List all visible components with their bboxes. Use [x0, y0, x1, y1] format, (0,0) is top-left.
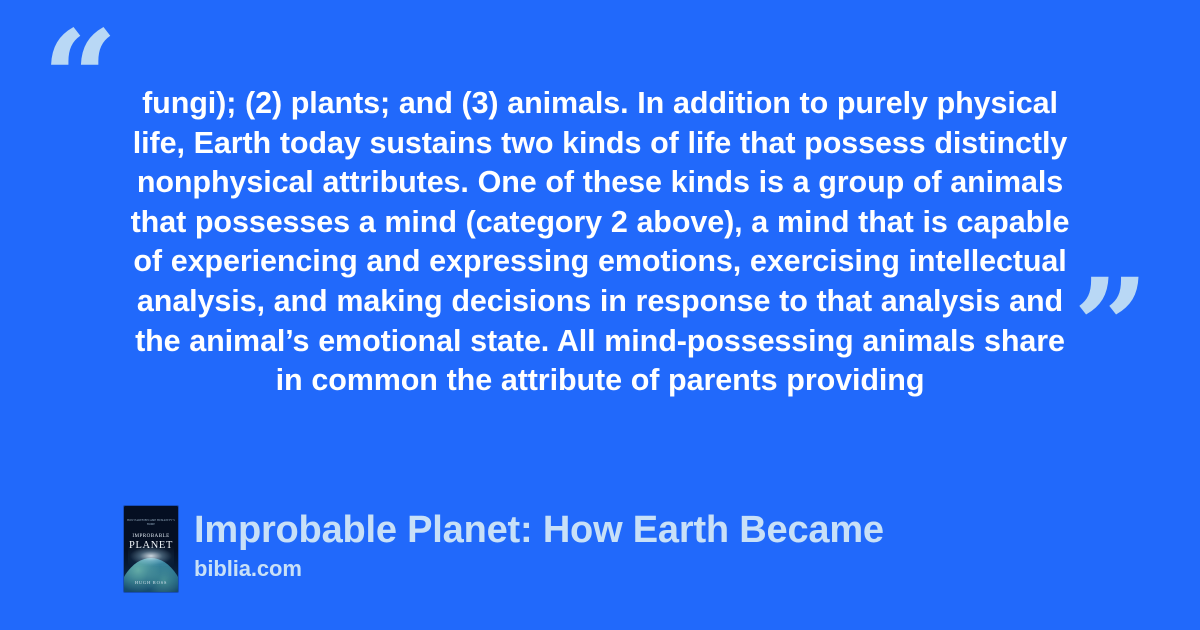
cover-subtitle: HOW EARTH BECAME HUMANITY’S HOME	[124, 519, 178, 526]
earth-globe-graphic	[124, 558, 178, 592]
cover-author: HUGH ROSS	[124, 580, 178, 585]
quote-card: “ fungi); (2) plants; and (3) animals. I…	[0, 0, 1200, 630]
attribution: HOW EARTH BECAME HUMANITY’S HOME IMPROBA…	[124, 506, 884, 592]
cover-title-line-2: PLANET	[124, 540, 178, 551]
quote-text: fungi); (2) plants; and (3) animals. In …	[118, 84, 1082, 401]
book-cover-thumbnail: HOW EARTH BECAME HUMANITY’S HOME IMPROBA…	[124, 506, 178, 592]
book-title: Improbable Planet: How Earth Became	[194, 508, 884, 552]
attribution-text-block: Improbable Planet: How Earth Became bibl…	[194, 506, 884, 582]
source-name: biblia.com	[194, 556, 884, 582]
cover-title-line-1: IMPROBABLE	[124, 533, 178, 539]
close-quote-icon: ”	[1073, 262, 1149, 394]
open-quote-icon: “	[42, 14, 118, 146]
